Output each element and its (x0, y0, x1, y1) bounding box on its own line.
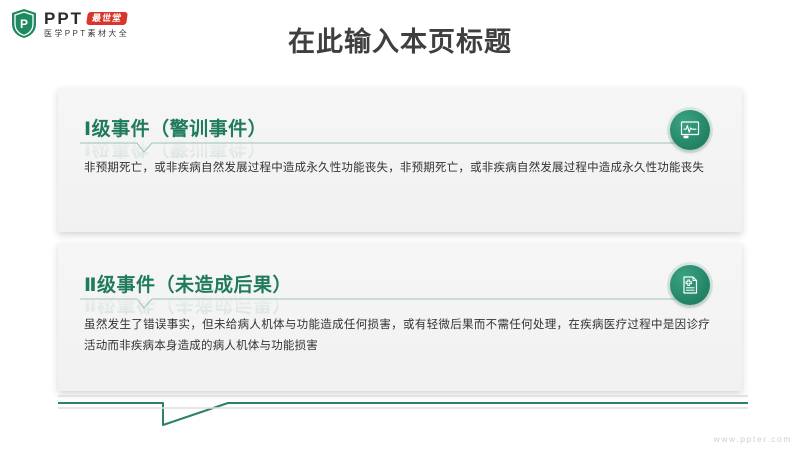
level-2-event-card[interactable]: Ⅱ级事件（未造成后果） Ⅱ级事件（未造成后果） 虽然发生了错误事实，但未给病人机… (58, 243, 742, 391)
card-heading: Ⅰ级事件（警训事件） (84, 114, 267, 141)
page-title: 在此输入本页标题 (0, 20, 800, 59)
level-1-event-card[interactable]: Ⅰ级事件（警训事件） Ⅰ级事件（警训事件） 非预期死亡，或非疾病自然发展过程中造… (58, 88, 742, 232)
bottom-decorative-line (58, 392, 748, 437)
card-body-text: 非预期死亡，或非疾病自然发展过程中造成永久性功能丧失，非预期死亡，或非疾病自然发… (84, 158, 710, 179)
ecg-monitor-icon[interactable] (670, 110, 710, 150)
card-body-text: 虽然发生了错误事实，但未给病人机体与功能造成任何损害，或有轻微后果而不需任何处理… (84, 315, 710, 358)
watermark: www.ppter.com (714, 434, 792, 444)
medical-report-icon[interactable] (670, 265, 710, 305)
heading-divider (80, 140, 676, 156)
card-heading: Ⅱ级事件（未造成后果） (84, 270, 292, 297)
heading-divider (80, 296, 676, 312)
